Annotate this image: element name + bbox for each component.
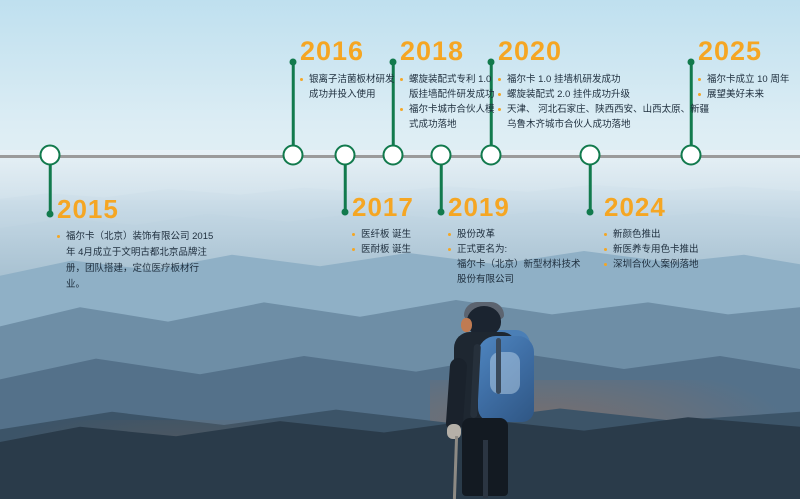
event-bullets-2018: 螺旋装配式专利 1.0 版挂墙配件研发成功 福尔卡城市合伙人模 式成功落地 <box>400 72 495 132</box>
list-item: 新医养专用色卡推出 <box>604 242 699 257</box>
year-label-2015: 2015 <box>57 196 216 222</box>
backpack-strap-right <box>496 338 501 394</box>
list-item: 展望美好未来 <box>698 87 789 102</box>
event-bullets-2019: 股份改革 正式更名为: 福尔卡（北京）新型材料技术 股份有限公司 <box>448 227 581 287</box>
list-item: 乌鲁木齐城市合伙人成功落地 <box>498 117 709 132</box>
timeline-node-2020[interactable] <box>481 145 502 166</box>
hiker-leg-gap <box>483 440 488 498</box>
hiker-figure <box>430 300 570 499</box>
year-label-2020: 2020 <box>498 38 709 65</box>
timeline-entry-2020[interactable]: 2020 福尔卡 1.0 挂墙机研发成功 螺旋装配式 2.0 挂件成功升级 天津… <box>498 38 709 132</box>
list-item: 螺旋装配式专利 1.0 <box>400 72 495 87</box>
timeline-stem-2015 <box>49 164 52 214</box>
list-item: 福尔卡成立 10 周年 <box>698 72 789 87</box>
timeline-entry-2018[interactable]: 2018 螺旋装配式专利 1.0 版挂墙配件研发成功 福尔卡城市合伙人模 式成功… <box>400 38 495 132</box>
list-item: 正式更名为: <box>448 242 581 257</box>
timeline-stem-dot-2024 <box>587 209 594 216</box>
event-bullets-2025: 福尔卡成立 10 周年 展望美好未来 <box>698 72 789 102</box>
timeline-stem-2019 <box>440 164 443 212</box>
backpack-highlight <box>490 352 520 394</box>
timeline-stem-dot-2015 <box>47 211 54 218</box>
list-item: 深圳合伙人案例落地 <box>604 257 699 272</box>
hiker-hand <box>447 424 461 439</box>
list-item: 福尔卡（北京）新型材料技术 <box>448 257 581 272</box>
year-label-2017: 2017 <box>352 194 414 220</box>
list-item: 新颜色推出 <box>604 227 699 242</box>
list-item: 银离子洁菌板材研发 <box>300 72 395 87</box>
timeline-entry-2019[interactable]: 2019 股份改革 正式更名为: 福尔卡（北京）新型材料技术 股份有限公司 <box>448 194 581 287</box>
event-bullets-2016: 银离子洁菌板材研发 成功并投入使用 <box>300 72 395 102</box>
timeline-stem-2016 <box>292 62 295 147</box>
list-item: 成功并投入使用 <box>300 87 395 102</box>
event-bullets-2017: 医纤板 诞生 医耐板 诞生 <box>352 227 414 257</box>
hiker-face <box>461 318 472 332</box>
event-bullets-2020: 福尔卡 1.0 挂墙机研发成功 螺旋装配式 2.0 挂件成功升级 天津、 河北石… <box>498 72 709 132</box>
timeline-node-2016[interactable] <box>283 145 304 166</box>
trekking-pole <box>453 436 458 499</box>
timeline-node-2025[interactable] <box>681 145 702 166</box>
timeline-entry-2025[interactable]: 2025 福尔卡成立 10 周年 展望美好未来 <box>698 38 789 102</box>
timeline-node-2024[interactable] <box>580 145 601 166</box>
list-item: 医纤板 诞生 <box>352 227 414 242</box>
timeline-node-2017[interactable] <box>335 145 356 166</box>
year-label-2016: 2016 <box>300 38 395 65</box>
year-label-2024: 2024 <box>604 194 699 220</box>
timeline-entry-2017[interactable]: 2017 医纤板 诞生 医耐板 诞生 <box>352 194 414 257</box>
year-label-2025: 2025 <box>698 38 789 65</box>
year-label-2018: 2018 <box>400 38 495 65</box>
list-item: 天津、 河北石家庄、陕西西安、山西太原、新疆 <box>498 102 709 117</box>
event-bullets-2024: 新颜色推出 新医养专用色卡推出 深圳合伙人案例落地 <box>604 227 699 272</box>
timeline-stem-dot-2016 <box>290 59 297 66</box>
timeline-entry-2016[interactable]: 2016 银离子洁菌板材研发 成功并投入使用 <box>300 38 395 102</box>
timeline-entry-2024[interactable]: 2024 新颜色推出 新医养专用色卡推出 深圳合伙人案例落地 <box>604 194 699 272</box>
timeline-node-2015[interactable] <box>40 145 61 166</box>
list-item: 螺旋装配式 2.0 挂件成功升级 <box>498 87 709 102</box>
list-item: 福尔卡城市合伙人模 <box>400 102 495 117</box>
timeline-entry-2015[interactable]: 2015 福尔卡（北京）装饰有限公司 2015 年 4月成立于文明古都北京品牌注… <box>57 196 216 293</box>
list-item: 式成功落地 <box>400 117 495 132</box>
event-text-2015: 福尔卡（北京）装饰有限公司 2015 年 4月成立于文明古都北京品牌注册，团队搭… <box>57 229 216 293</box>
list-item: 股份改革 <box>448 227 581 242</box>
timeline-stem-dot-2017 <box>342 209 349 216</box>
list-item: 福尔卡 1.0 挂墙机研发成功 <box>498 72 709 87</box>
list-item: 股份有限公司 <box>448 272 581 287</box>
year-label-2019: 2019 <box>448 194 581 220</box>
list-item: 版挂墙配件研发成功 <box>400 87 495 102</box>
timeline-stem-2017 <box>344 164 347 212</box>
list-item: 医耐板 诞生 <box>352 242 414 257</box>
timeline-stem-dot-2019 <box>438 209 445 216</box>
timeline-stem-2024 <box>589 164 592 212</box>
timeline-infographic: 2015 福尔卡（北京）装饰有限公司 2015 年 4月成立于文明古都北京品牌注… <box>0 0 800 499</box>
timeline-node-2019[interactable] <box>431 145 452 166</box>
timeline-node-2018[interactable] <box>383 145 404 166</box>
